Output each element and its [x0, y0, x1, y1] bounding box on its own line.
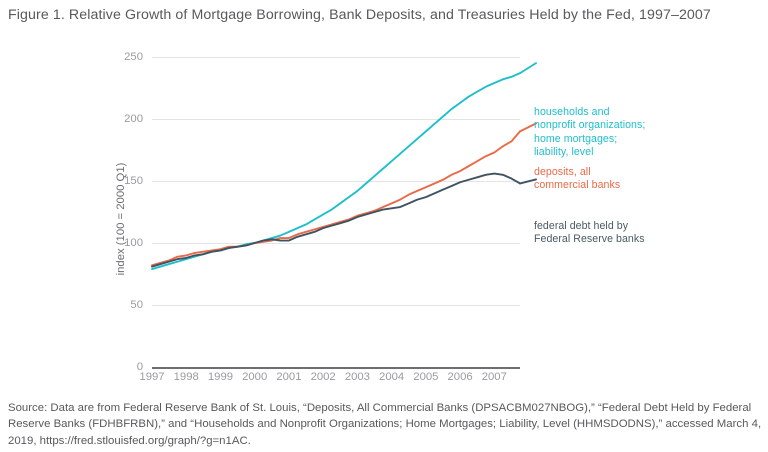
page-title: Figure 1. Relative Growth of Mortgage Bo…: [8, 6, 760, 25]
x-axis-tick-label: 2002: [311, 371, 336, 383]
x-axis-tick-label: 2000: [242, 371, 267, 383]
legend-item-households: households and nonprofit organizations; …: [534, 106, 645, 160]
x-axis-tick-label: 2005: [413, 371, 438, 383]
legend-leader-line: [520, 63, 536, 73]
y-axis-tick-label: 150: [124, 175, 143, 187]
y-axis-tick-label: 50: [130, 299, 143, 311]
y-axis-tick-label: 200: [124, 113, 143, 125]
chart-canvas: 0501001502002501997199819992000200120022…: [152, 57, 520, 367]
x-axis-tick-label: 1997: [139, 371, 164, 383]
y-axis-tick-label: 100: [124, 237, 143, 249]
series-lines: [152, 57, 520, 367]
x-axis-tick-label: 2006: [448, 371, 473, 383]
x-axis-tick-label: 2004: [379, 371, 404, 383]
series-line: [152, 131, 520, 265]
x-axis-tick-label: 2001: [276, 371, 301, 383]
series-line: [152, 73, 520, 269]
x-axis-tick-label: 1998: [174, 371, 199, 383]
x-axis-baseline: [152, 367, 520, 369]
legend-item-deposits: deposits, all commercial banks: [534, 166, 620, 193]
x-axis-tick-label: 2003: [345, 371, 370, 383]
source-note: Source: Data are from Federal Reserve Ba…: [8, 400, 764, 449]
x-axis-tick-label: 2007: [482, 371, 507, 383]
legend-item-federal-debt: federal debt held by Federal Reserve ban…: [534, 220, 645, 247]
x-axis-tick-label: 1999: [208, 371, 233, 383]
series-line: [152, 174, 520, 267]
y-axis-tick-label: 250: [124, 51, 143, 63]
chart-plot-area: 0501001502002501997199819992000200120022…: [0, 44, 768, 394]
